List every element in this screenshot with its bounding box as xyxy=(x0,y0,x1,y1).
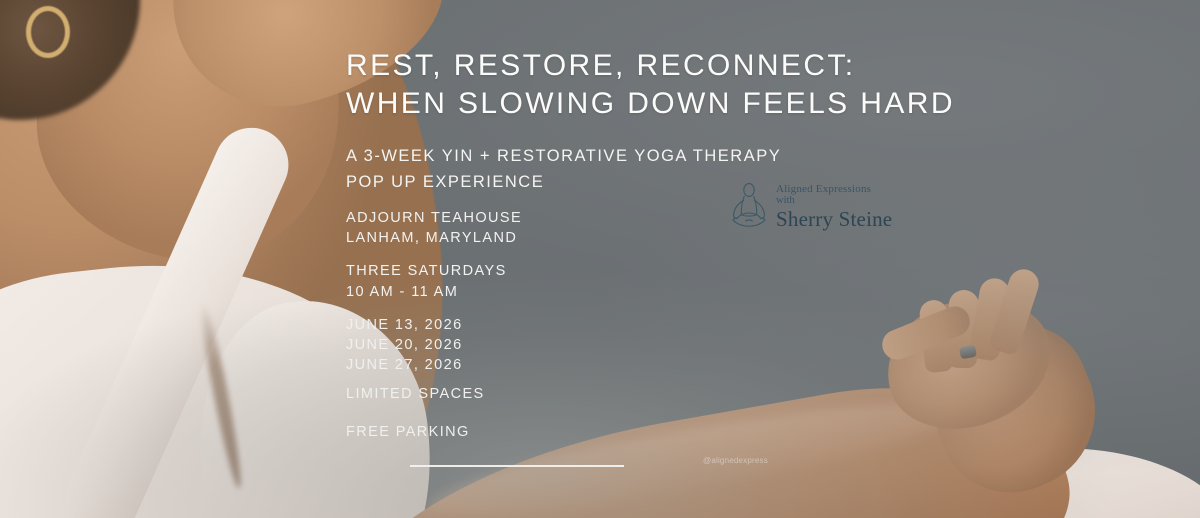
venue-city: LANHAM, MARYLAND xyxy=(346,228,522,248)
subtitle: A 3-WEEK YIN + RESTORATIVE YOGA THERAPY … xyxy=(346,143,781,195)
venue-block: ADJOURN TEAHOUSE LANHAM, MARYLAND xyxy=(346,208,522,248)
logo-line-1: Aligned Expressions xyxy=(776,183,892,195)
logo-text-block: Aligned Expressions with Sherry Steine xyxy=(776,183,892,231)
dates-block: JUNE 13, 2026 JUNE 20, 2026 JUNE 27, 202… xyxy=(346,315,463,375)
divider-rule xyxy=(410,465,624,467)
poster-canvas: REST, RESTORE, RECONNECT: WHEN SLOWING D… xyxy=(0,0,1200,518)
date-item: JUNE 13, 2026 xyxy=(346,315,463,335)
brand-logo: Aligned Expressions with Sherry Steine xyxy=(726,176,898,238)
text-column: REST, RESTORE, RECONNECT: WHEN SLOWING D… xyxy=(346,0,1046,518)
schedule-block: THREE SATURDAYS 10 AM - 11 AM xyxy=(346,261,507,303)
title-line-2: WHEN SLOWING DOWN FEELS HARD xyxy=(346,85,955,123)
subtitle-line-1: A 3-WEEK YIN + RESTORATIVE YOGA THERAPY xyxy=(346,143,781,169)
date-item: JUNE 27, 2026 xyxy=(346,355,463,375)
schedule-days: THREE SATURDAYS xyxy=(346,261,507,282)
free-parking-note: FREE PARKING xyxy=(346,424,470,440)
venue-name: ADJOURN TEAHOUSE xyxy=(346,208,522,228)
limited-spaces-note: LIMITED SPACES xyxy=(346,386,485,402)
logo-line-2: with xyxy=(776,195,892,207)
meditating-figure-icon xyxy=(726,180,772,234)
subtitle-line-2: POP UP EXPERIENCE xyxy=(346,169,781,195)
page-title: REST, RESTORE, RECONNECT: WHEN SLOWING D… xyxy=(346,47,955,123)
schedule-time: 10 AM - 11 AM xyxy=(346,282,507,303)
title-line-1: REST, RESTORE, RECONNECT: xyxy=(346,47,955,85)
watermark-handle: @alignedexpress xyxy=(703,456,768,465)
date-item: JUNE 20, 2026 xyxy=(346,335,463,355)
logo-instructor-name: Sherry Steine xyxy=(776,208,892,231)
